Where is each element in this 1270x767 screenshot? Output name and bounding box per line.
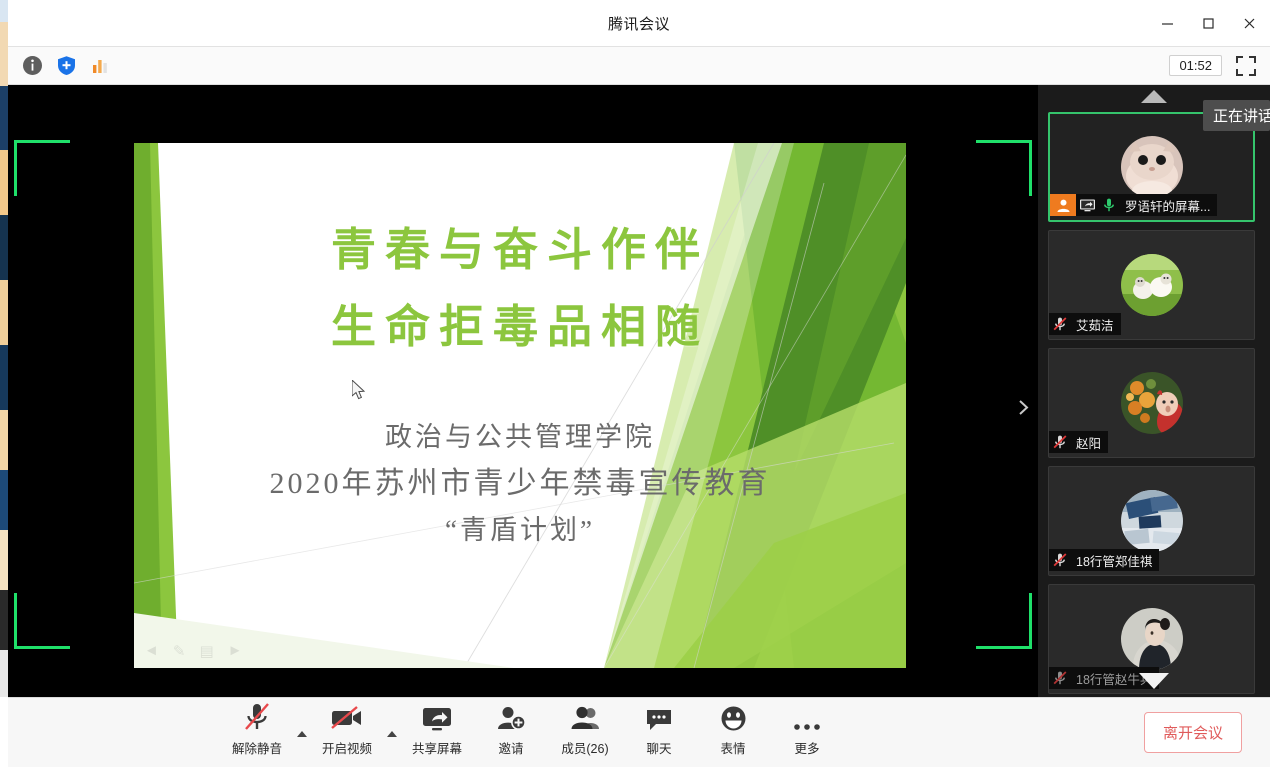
more-dots-icon (793, 702, 821, 732)
slide-subtitle: 政治与公共管理学院 2020年苏州市青少年禁毒宣传教育 “青盾计划” (134, 415, 906, 553)
share-corner-marker-bl (14, 593, 70, 649)
next-arrow-icon[interactable]: ► (228, 642, 243, 660)
more-label: 更多 (794, 738, 819, 757)
slide-text-block: 青春与奋斗作伴 生命拒毒品相随 政治与公共管理学院 2020年苏州市青少年禁毒宣… (134, 143, 906, 668)
slides-grid-icon[interactable]: ▤ (199, 642, 213, 660)
slide-subtitle-line-2: 2020年苏州市青少年禁毒宣传教育 (134, 459, 906, 508)
share-screen-icon (421, 702, 453, 732)
unmute-label: 解除静音 (232, 738, 282, 757)
participant-name-3: 18行管郑佳祺 (1071, 551, 1152, 570)
audio-options-caret[interactable] (294, 731, 310, 737)
microphone-muted-icon (1049, 667, 1071, 689)
start-video-label: 开启视频 (322, 738, 372, 757)
collapse-sidebar-handle[interactable] (1014, 390, 1032, 424)
participant-footer-3: 18行管郑佳祺 (1049, 549, 1159, 571)
participant-name-0: 罗语轩的屏幕... (1120, 196, 1210, 215)
window-bottom-left-filler (0, 697, 8, 767)
participant-tile-list: 罗语轩的屏幕... (1048, 112, 1260, 697)
chevron-right-icon (1018, 399, 1029, 416)
share-corner-marker-tr (976, 140, 1032, 196)
participant-footer-1: 艾茹洁 (1049, 313, 1121, 335)
more-button[interactable]: 更多 (770, 702, 844, 763)
shared-screen-stage[interactable]: 青春与奋斗作伴 生命拒毒品相随 政治与公共管理学院 2020年苏州市青少年禁毒宣… (8, 85, 1038, 697)
share-screen-button[interactable]: 共享屏幕 (400, 702, 474, 763)
workspace-photo-avatar (1121, 490, 1183, 552)
participant-footer-2: 赵阳 (1049, 431, 1108, 453)
emoji-smile-icon (720, 702, 747, 732)
participant-sidebar[interactable]: 罗语轩的屏幕... (1038, 85, 1270, 697)
lambs-photo-avatar (1121, 254, 1183, 316)
slide-title: 青春与奋斗作伴 生命拒毒品相随 (134, 211, 906, 366)
camera-off-icon (330, 702, 364, 732)
participant-name-1: 艾茹洁 (1071, 315, 1114, 334)
emoji-button[interactable]: 表情 (696, 702, 770, 763)
video-options-caret[interactable] (384, 731, 400, 737)
slide-title-line-2: 生命拒毒品相随 (134, 288, 906, 365)
teletubby-illustration-avatar (1121, 372, 1183, 434)
leave-meeting-button[interactable]: 离开会议 (1144, 712, 1242, 753)
microphone-active-icon (1098, 194, 1120, 216)
participant-tile-2[interactable]: 赵阳 (1048, 348, 1255, 458)
window-title: 腾讯会议 (608, 13, 670, 34)
invite-button[interactable]: 邀请 (474, 702, 548, 763)
fullscreen-icon[interactable] (1236, 56, 1256, 76)
maximize-button[interactable] (1188, 0, 1229, 47)
slide-subtitle-line-1: 政治与公共管理学院 (134, 415, 906, 459)
unmute-button[interactable]: 解除静音 (220, 702, 294, 763)
chat-bubble-icon (645, 702, 673, 732)
shield-plus-icon[interactable] (54, 54, 78, 78)
members-icon (570, 702, 600, 732)
caret-up-icon (297, 731, 307, 737)
pen-icon[interactable]: ✎ (173, 642, 186, 660)
cat-photo-avatar (1121, 136, 1183, 198)
info-circle-icon[interactable] (20, 54, 44, 78)
participant-tile-3[interactable]: 18行管郑佳祺 (1048, 466, 1255, 576)
chat-label: 聊天 (646, 738, 671, 757)
meeting-info-bar: 01:52 (8, 47, 1270, 85)
network-stats-icon[interactable] (88, 54, 112, 78)
background-desktop-strip (0, 0, 8, 767)
presentation-slide[interactable]: 青春与奋斗作伴 生命拒毒品相随 政治与公共管理学院 2020年苏州市青少年禁毒宣… (134, 143, 906, 668)
microphone-muted-icon (243, 702, 271, 732)
members-label: 成员(26) (561, 738, 608, 757)
speaking-tooltip: 正在讲话 (1203, 100, 1270, 131)
slide-subtitle-line-3: “青盾计划” (134, 508, 906, 552)
start-video-button[interactable]: 开启视频 (310, 702, 384, 763)
host-badge-icon (1050, 194, 1076, 216)
control-buttons-group: 解除静音 开启视频 (220, 702, 844, 763)
prev-arrow-icon[interactable]: ◄ (144, 642, 159, 660)
microphone-muted-icon (1049, 313, 1071, 335)
emoji-label: 表情 (720, 738, 745, 757)
microphone-muted-icon (1049, 549, 1071, 571)
members-button[interactable]: 成员(26) (548, 702, 622, 763)
tencent-meeting-window: 腾讯会议 (0, 0, 1270, 767)
invite-person-icon (496, 702, 526, 732)
title-bar: 腾讯会议 (8, 0, 1270, 47)
scroll-down-arrow-icon[interactable] (1139, 673, 1169, 689)
meeting-control-bar: 解除静音 开启视频 (8, 697, 1270, 767)
minimize-button[interactable] (1147, 0, 1188, 47)
participant-name-2: 赵阳 (1071, 433, 1101, 452)
screen-share-icon (1076, 194, 1098, 216)
share-corner-marker-br (976, 593, 1032, 649)
caret-up-icon (387, 731, 397, 737)
meeting-timer: 01:52 (1169, 55, 1222, 76)
close-button[interactable] (1229, 0, 1270, 47)
person-photo-avatar (1121, 608, 1183, 670)
window-controls (1147, 0, 1270, 47)
invite-label: 邀请 (498, 738, 523, 757)
microphone-muted-icon (1049, 431, 1071, 453)
share-corner-marker-tl (14, 140, 70, 196)
meeting-status-right: 01:52 (1169, 55, 1270, 76)
participant-tile-1[interactable]: 艾茹洁 (1048, 230, 1255, 340)
chat-button[interactable]: 聊天 (622, 702, 696, 763)
meeting-info-icons (8, 54, 112, 78)
slide-title-line-1: 青春与奋斗作伴 (134, 211, 906, 288)
scroll-up-arrow-icon[interactable] (1141, 90, 1167, 103)
share-screen-label: 共享屏幕 (412, 738, 462, 757)
participant-footer-0: 罗语轩的屏幕... (1050, 194, 1217, 216)
powerpoint-slideshow-nav[interactable]: ◄ ✎ ▤ ► (144, 642, 242, 660)
